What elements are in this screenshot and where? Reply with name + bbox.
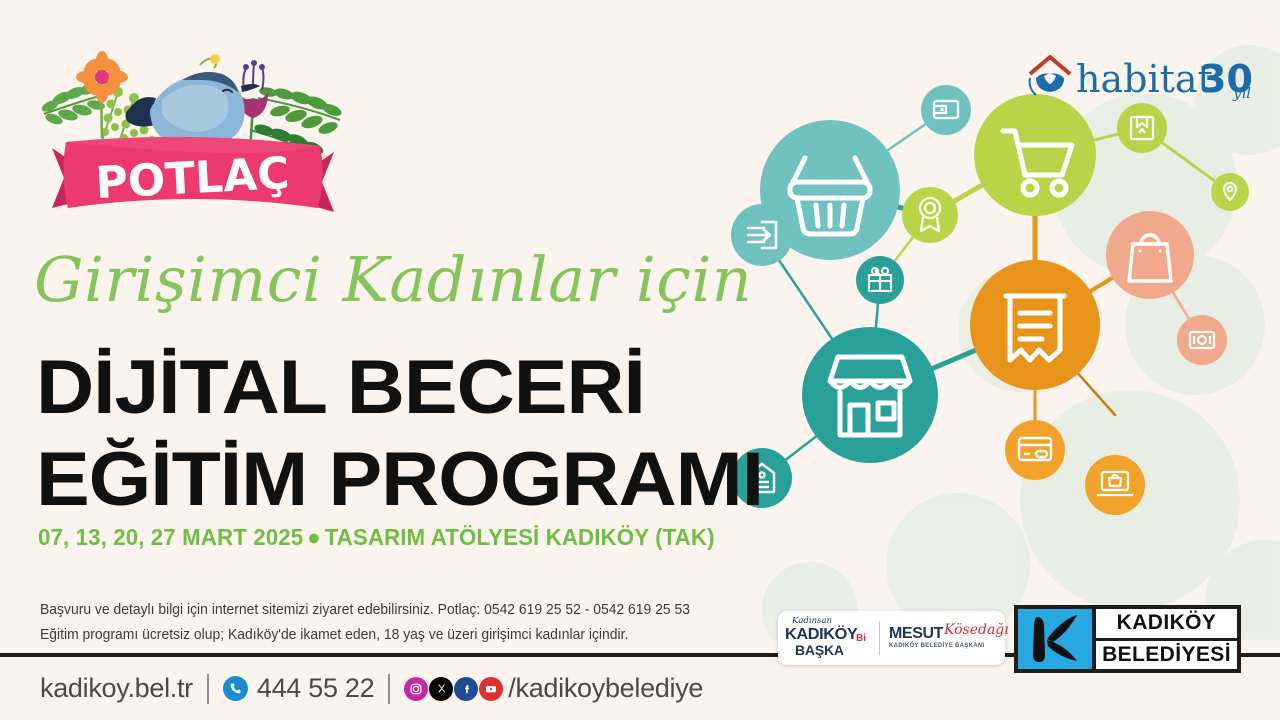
mayor-first-name: MESUT	[889, 625, 943, 643]
x-twitter-icon[interactable]	[429, 677, 453, 701]
mayor-title: KADIKÖY BELEDİYE BAŞKANI	[889, 643, 984, 649]
habitat-anniversary-suffix: yıl	[1232, 84, 1251, 102]
phone-number[interactable]: 444 55 22	[257, 673, 374, 704]
date-separator-bullet: ●	[303, 524, 324, 551]
body-paragraph: Başvuru ve detaylı bilgi için internet s…	[40, 598, 770, 648]
body-line-1: Başvuru ve detaylı bilgi için internet s…	[40, 598, 770, 623]
node-receipt-icon	[970, 260, 1100, 390]
habitat-globe-icon	[1030, 74, 1064, 96]
kadinsan-text: Kadınsan	[792, 616, 832, 626]
node-gift-icon	[856, 256, 904, 304]
mayor-last-name: Kösedağı	[944, 622, 1009, 638]
node-money-icon	[1177, 315, 1227, 365]
potlac-logo: POTLAÇ	[22, 18, 362, 233]
habitat-roof-icon	[1030, 57, 1070, 74]
footer-separator-2	[388, 674, 390, 704]
youtube-icon[interactable]	[479, 677, 503, 701]
habitat-logo: habitat 30 yıl	[1024, 48, 1256, 106]
node-shopping-cart-icon	[974, 94, 1096, 216]
event-dates: 07, 13, 20, 27 MART 2025	[38, 524, 303, 550]
body-line-2: Eğitim programı ücretsiz olup; Kadıköy'd…	[40, 623, 770, 648]
habitat-wordmark: habitat	[1076, 57, 1213, 101]
node-wallet-icon	[921, 85, 971, 135]
municipality-line-2: BELEDİYESİ	[1096, 641, 1237, 670]
potlac-ribbon-text: POTLAÇ	[94, 148, 290, 209]
node-credit-card-icon	[1005, 420, 1065, 480]
municipality-wordmark: KADIKÖY BELEDİYESİ	[1096, 609, 1237, 669]
website-link[interactable]: kadikoy.bel.tr	[40, 673, 193, 704]
kadikoy-k-mark	[1018, 609, 1092, 669]
event-venue: TASARIM ATÖLYESİ KADIKÖY (TAK)	[325, 524, 715, 550]
footer-separator-1	[207, 674, 209, 704]
node-laptop-shop-icon	[1085, 455, 1145, 515]
poster-canvas: POTLAÇ habitat 30 yıl Girişimci Kadınlar…	[0, 0, 1280, 720]
instagram-icon[interactable]	[404, 677, 428, 701]
municipality-line-1: KADIKÖY	[1096, 609, 1237, 638]
headline-script-line: Girişimci Kadınlar için	[34, 243, 752, 316]
node-location-pin-icon	[1211, 173, 1249, 211]
municipality-logo: KADIKÖY BELEDİYESİ	[1014, 605, 1241, 673]
mayor-slogan-logo: Kadınsan KADIKÖY Bi BAŞKA MESUT Kösedağı…	[778, 611, 1005, 665]
node-storefront-icon	[802, 327, 938, 463]
phone-icon	[223, 676, 248, 701]
facebook-icon[interactable]	[454, 677, 478, 701]
node-badge-icon	[902, 187, 958, 243]
baska-text: BAŞKA	[795, 642, 844, 658]
date-venue-line: 07, 13, 20, 27 MART 2025●TASARIM ATÖLYES…	[38, 524, 715, 551]
potlac-ribbon: POTLAÇ	[52, 137, 334, 212]
kadinsan-block: Kadınsan KADIKÖY Bi BAŞKA	[778, 611, 879, 665]
node-box-icon	[1117, 103, 1167, 153]
headline-line-1: DİJİTAL BECERİ	[36, 344, 645, 431]
node-shopping-bag-icon	[1106, 211, 1194, 299]
bi-text: Bi	[856, 633, 866, 644]
social-handle[interactable]: /kadikoybelediye	[508, 673, 703, 704]
k-glyph-icon	[1023, 611, 1087, 667]
headline-line-2: EĞİTİM PROGRAMI	[36, 436, 763, 523]
mayor-name-block: MESUT Kösedağı KADIKÖY BELEDİYE BAŞKANI	[880, 611, 1005, 665]
